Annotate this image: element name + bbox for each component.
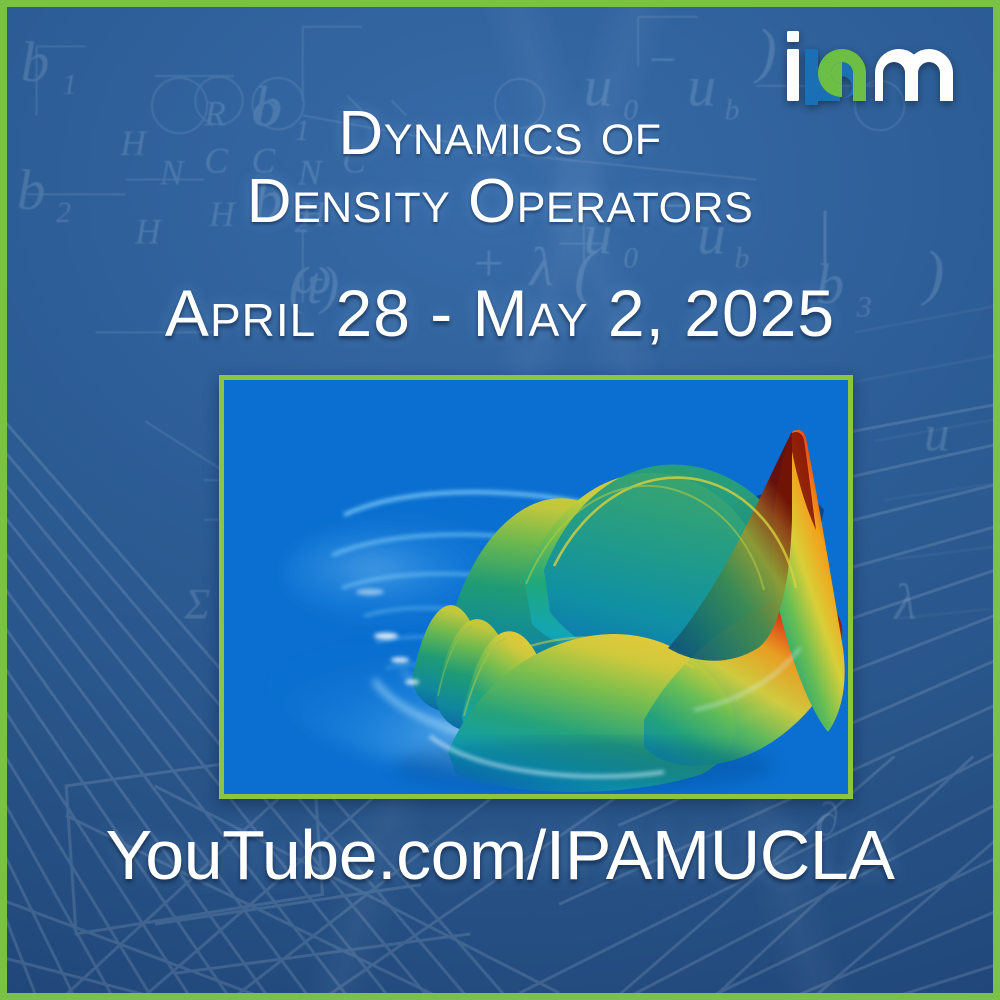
page-title: Dynamics of Density Operators <box>7 103 993 233</box>
surface-plot-3d <box>224 380 848 794</box>
figure-frame <box>219 375 853 799</box>
title-line-2: Density Operators <box>7 171 993 233</box>
url-text[interactable]: YouTube.com/IPAMUCLA <box>7 815 993 895</box>
youtube-url[interactable]: YouTube.com/IPAMUCLA <box>7 815 993 895</box>
logo-letter-m <box>875 49 953 101</box>
ipam-logo[interactable] <box>785 27 971 105</box>
logo-letter-i <box>787 31 799 101</box>
event-dates: April 28 - May 2, 2025 <box>7 275 993 351</box>
date-text: April 28 - May 2, 2025 <box>7 275 993 351</box>
poster-root: b 1 b 1 b 2 b 2 b 3 u 0 u b u 0 u b − − … <box>0 0 1000 1000</box>
title-line-1: Dynamics of <box>7 103 993 165</box>
